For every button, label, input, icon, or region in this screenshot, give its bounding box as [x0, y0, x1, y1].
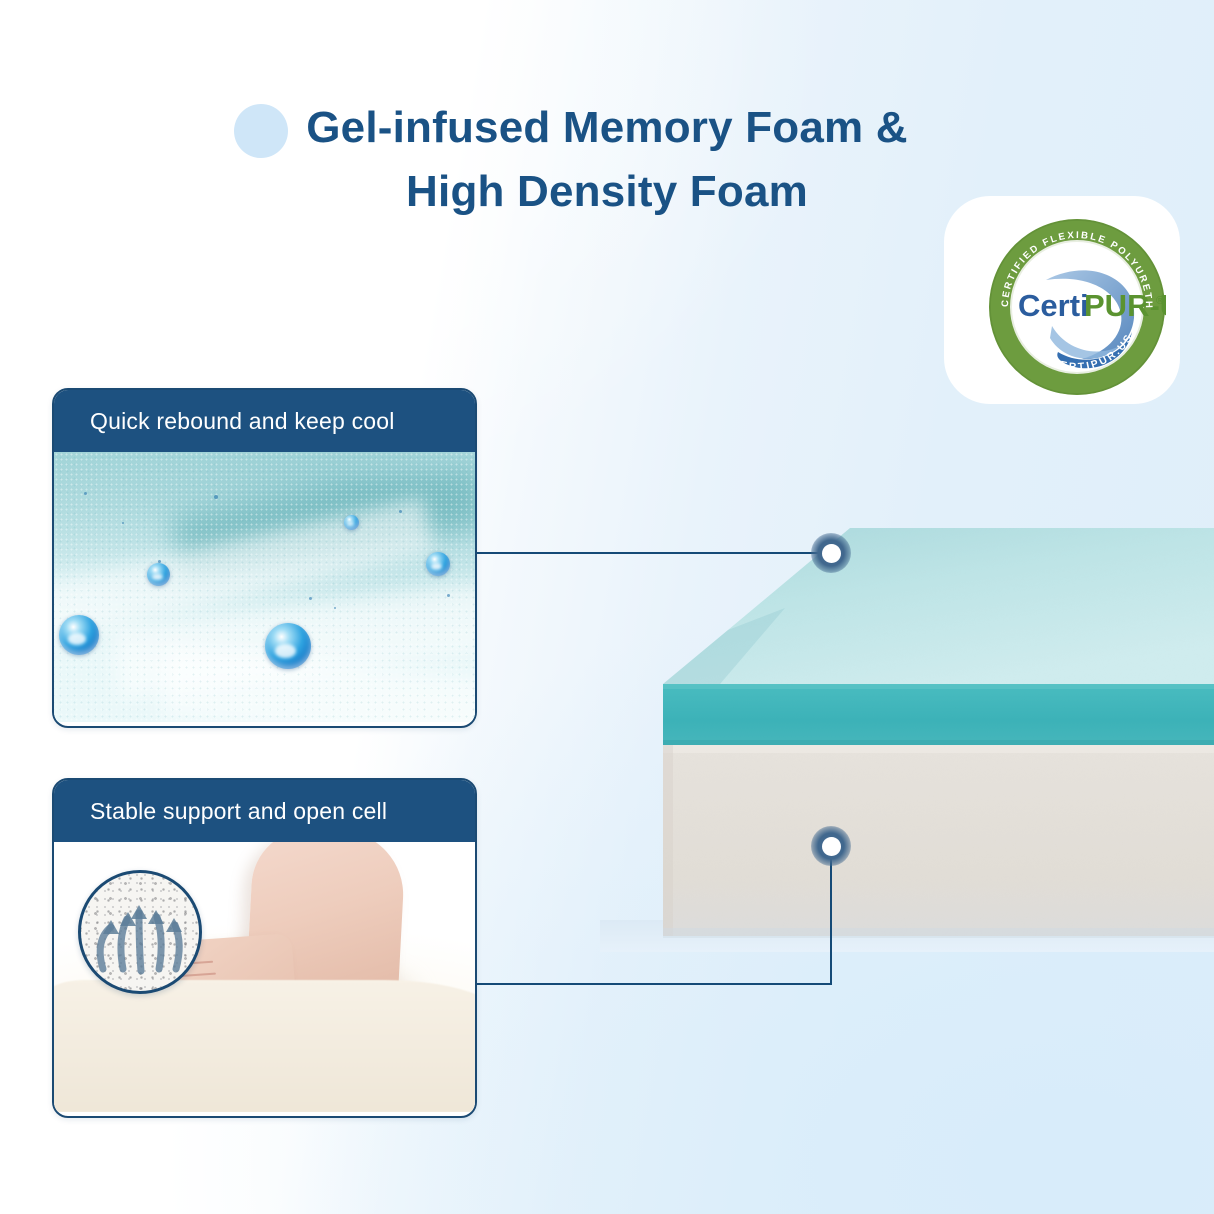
water-droplet [147, 563, 170, 586]
certipur-us-badge: Certi PUR-US ® CONTAINS CERTIFIED FLEXIB… [988, 218, 1166, 396]
feature-card-quick-rebound[interactable]: Quick rebound and keep cool [52, 388, 477, 728]
feature-card-header-quick-rebound: Quick rebound and keep cool [54, 390, 475, 452]
gel-bead-speck [122, 522, 124, 524]
feature-photo-foot-on-foam [54, 842, 475, 1112]
infographic-canvas: Gel-infused Memory Foam & High Density F… [0, 0, 1214, 1214]
feature-card-stable-support[interactable]: Stable support and open cell [52, 778, 477, 1118]
svg-text:®: ® [1156, 295, 1164, 307]
feature-photo-gel-foam-droplets [54, 452, 475, 722]
gel-bead-speck [447, 594, 450, 597]
gel-bead-speck [309, 597, 312, 600]
badge-wordmark-certi: Certi [1018, 288, 1089, 323]
gel-bead-speck [334, 607, 336, 609]
water-droplet [265, 623, 311, 669]
title-line-1: Gel-infused Memory Foam & [0, 96, 1214, 160]
gel-bead-speck [399, 510, 402, 513]
water-droplet [426, 552, 450, 576]
callout-marker-gel-layer[interactable] [811, 533, 851, 573]
open-cell-airflow-inset [78, 870, 202, 994]
feature-card-header-stable-support: Stable support and open cell [54, 780, 475, 842]
two-layer-foam-cutaway [600, 500, 1214, 952]
gel-bead-speck [158, 560, 161, 563]
callout-marker-support-layer[interactable] [811, 826, 851, 866]
gel-bead-speck [84, 492, 87, 495]
water-droplet [344, 515, 359, 530]
gel-bead-speck [214, 495, 218, 499]
callout-line-support-layer-vertical [830, 845, 832, 985]
callout-line-support-layer-horizontal [470, 983, 832, 985]
callout-line-gel-layer [470, 552, 832, 554]
water-droplet [59, 615, 99, 655]
